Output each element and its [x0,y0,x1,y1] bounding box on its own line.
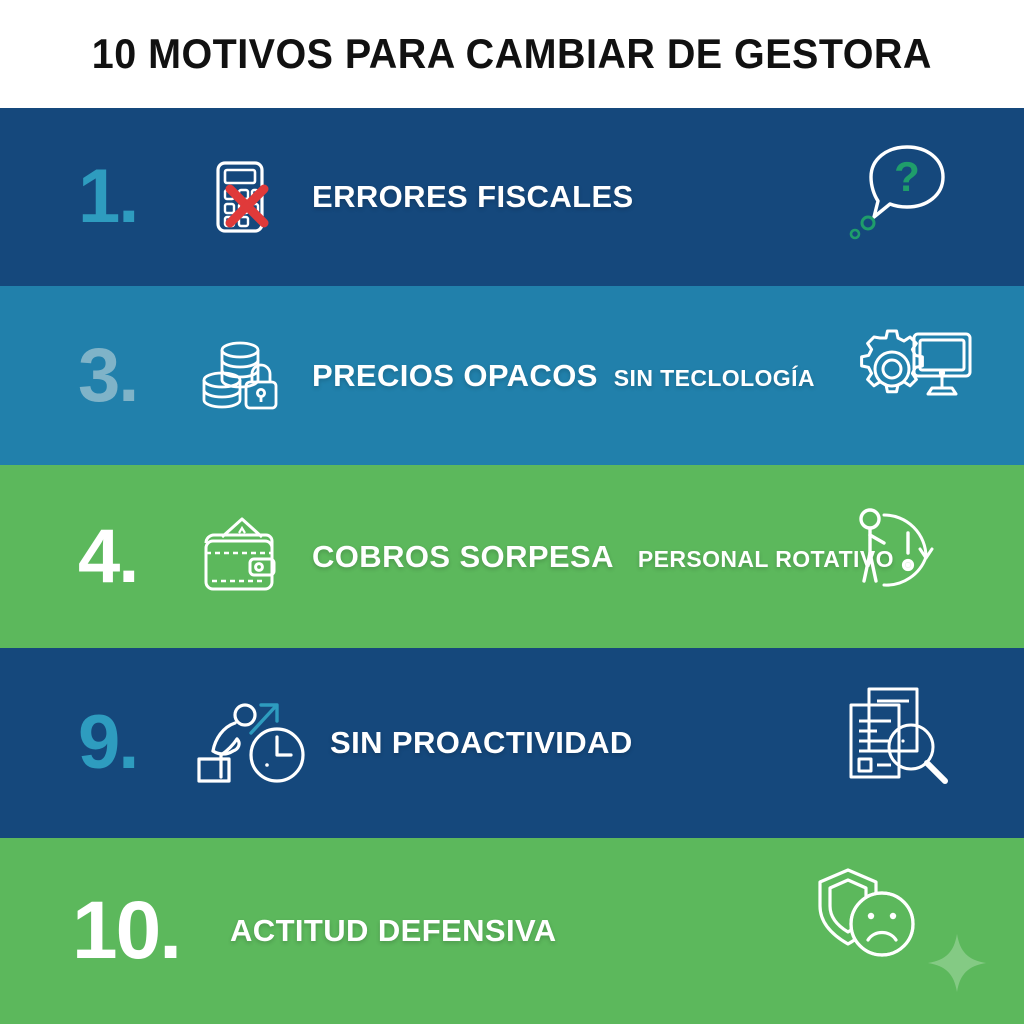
row-band-1: 1. [0,108,1024,286]
wallet-icon [192,509,288,605]
sitting-person-clock-icon [192,695,322,791]
page-title: 10 MOTIVOS PARA CAMBIAR DE GESTORA [92,30,932,78]
row-band-5: 10. ACTITUD DEFENSIVA [0,838,1024,1024]
row-label-sub-2: SIN TECLOLOGÍA [614,365,815,392]
speech-bubble-question-icon: ? [840,130,960,250]
row-number-2: 3. [78,338,190,414]
row-number-1: 1. [78,159,190,235]
calculator-error-icon [192,149,288,245]
documents-magnifier-icon [838,680,958,800]
row-number-5: 10. [72,890,222,972]
gear-monitor-icon [842,316,982,426]
row-label-main-5: ACTITUD DEFENSIVA [230,913,557,949]
row-band-3: 4. [0,465,1024,648]
row-number-3: 4. [78,519,190,595]
sparkle-icon [926,932,988,994]
poster-header: 10 MOTIVOS PARA CAMBIAR DE GESTORA [0,0,1024,108]
row-band-4: 9. [0,648,1024,838]
row-label-main-1: ERRORES FISCALES [312,179,634,215]
row-label-main-2: PRECIOS OPACOS [312,358,598,394]
svg-text:?: ? [894,153,920,200]
shield-sad-face-icon [808,862,928,972]
person-rotation-alert-icon [846,503,946,603]
row-number-4: 9. [78,705,190,781]
row-label-main-4: SIN PROACTIVIDAD [330,725,633,761]
coins-lock-icon [192,328,288,424]
infographic-poster: 10 MOTIVOS PARA CAMBIAR DE GESTORA 1. [0,0,1024,1024]
row-label-main-3: COBROS SORPESA [312,539,614,575]
row-band-2: 3. [0,286,1024,465]
